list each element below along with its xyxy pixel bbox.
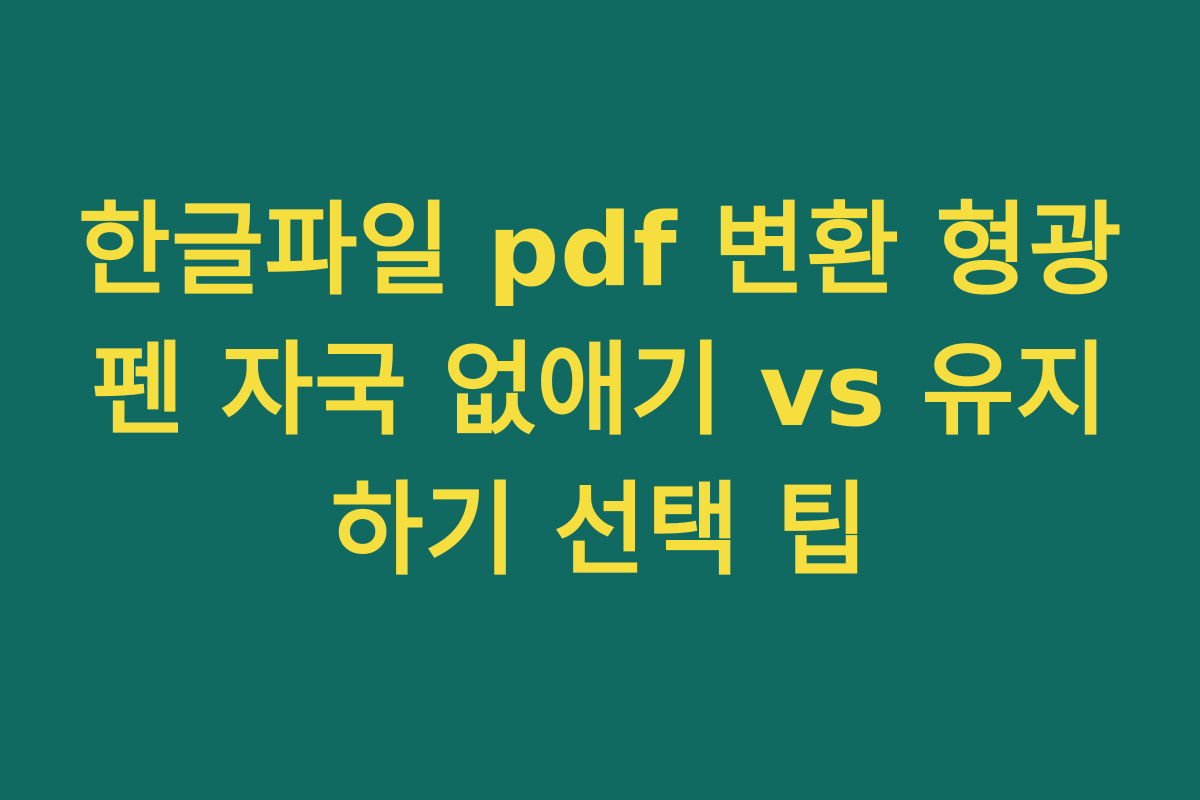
title-line-2: 펜 자국 없애기 vs 유지 <box>60 320 1140 460</box>
title-block: 한글파일 pdf 변환 형광 펜 자국 없애기 vs 유지 하기 선택 팁 <box>60 180 1140 600</box>
title-line-1: 한글파일 pdf 변환 형광 <box>60 180 1140 320</box>
thumbnail-card: 한글파일 pdf 변환 형광 펜 자국 없애기 vs 유지 하기 선택 팁 <box>0 0 1200 800</box>
title-line-3: 하기 선택 팁 <box>60 460 1140 600</box>
